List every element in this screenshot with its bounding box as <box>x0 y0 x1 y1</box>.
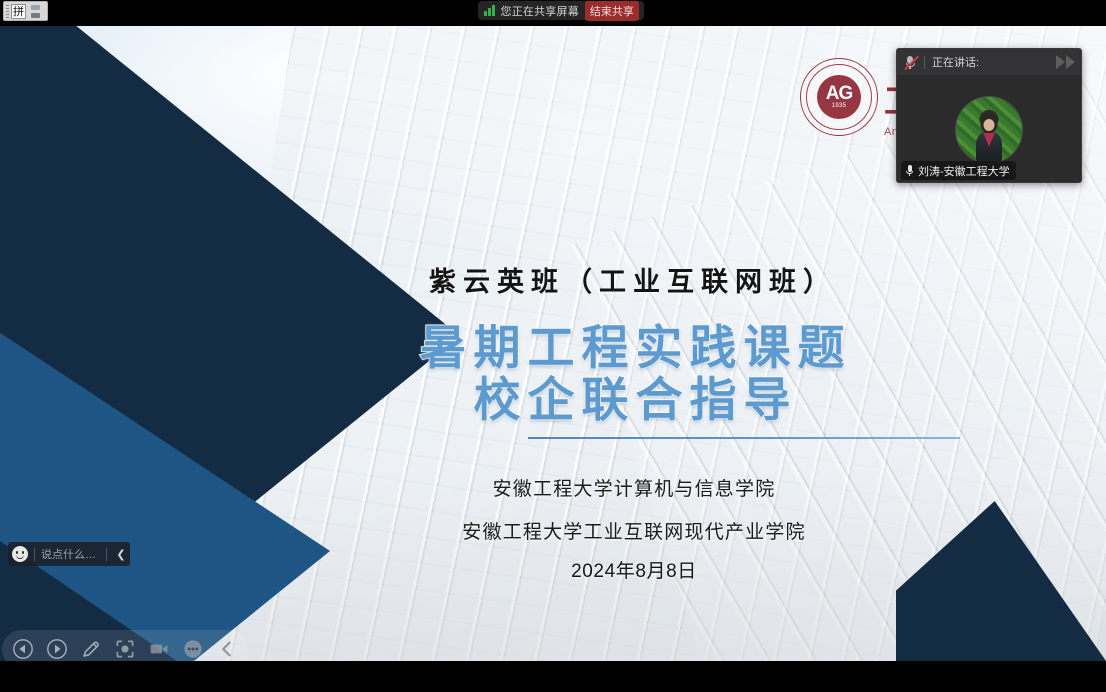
system-top-bar: 拼 您正在共享屏幕 结束共享 <box>0 0 1106 22</box>
participant-name: 刘涛-安徽工程大学 <box>918 163 1010 179</box>
header-divider <box>924 56 925 69</box>
previous-slide-button[interactable] <box>8 634 38 661</box>
chat-divider <box>34 548 35 561</box>
slide-title-line-2: 校企联合指导 <box>165 374 1106 426</box>
ime-mode-glyph[interactable]: 拼 <box>11 4 26 19</box>
university-seal-logo: AG 1935 <box>800 58 878 136</box>
share-status-text: 您正在共享屏幕 <box>501 3 579 19</box>
powerpoint-presenter-toolbar <box>2 630 248 661</box>
slide-main-title: 暑期工程实践课题 校企联合指导 <box>0 322 1106 426</box>
ime-toggle-icon[interactable] <box>28 4 42 19</box>
screen-share-window: 拼 您正在共享屏幕 结束共享 AG <box>0 0 1106 692</box>
mic-on-icon <box>905 165 914 177</box>
participant-name-tag: 刘涛-安徽工程大学 <box>901 161 1016 180</box>
logo-monogram: AG <box>826 84 853 103</box>
next-slide-button[interactable] <box>42 634 72 661</box>
chevron-left-icon[interactable]: ❮ <box>112 542 130 566</box>
chat-input[interactable]: 说点什么… <box>41 546 101 562</box>
ime-drag-handle[interactable] <box>6 5 9 18</box>
slide-subtitle-line-2: 安徽工程大学工业互联网现代产业学院 <box>0 517 1106 544</box>
slide-title-line-1: 暑期工程实践课题 <box>165 322 1106 374</box>
speaking-label: 正在讲话: <box>932 54 979 70</box>
more-options-button[interactable] <box>178 634 208 661</box>
collapse-chevrons-icon[interactable] <box>1056 55 1075 69</box>
slide-date: 2024年8月8日 <box>0 556 1106 583</box>
video-panel-body: 刘涛-安徽工程大学 <box>897 75 1081 183</box>
stop-sharing-button[interactable]: 结束共享 <box>585 1 639 21</box>
mic-muted-icon[interactable] <box>903 55 917 70</box>
chat-comment-widget[interactable]: 说点什么… ❮ <box>8 542 130 566</box>
camera-button[interactable] <box>144 634 174 661</box>
emoji-smiley-icon[interactable] <box>12 546 28 562</box>
participant-video-panel[interactable]: 正在讲话: 刘涛-安徽工程大学 <box>896 48 1082 183</box>
video-panel-header: 正在讲话: <box>897 49 1081 75</box>
signal-bars-icon <box>484 5 495 16</box>
chat-divider-2 <box>106 548 107 561</box>
pen-tool-button[interactable] <box>76 634 106 661</box>
laser-pointer-button[interactable] <box>110 634 140 661</box>
title-underline-rule <box>528 437 960 439</box>
collapse-toolbar-button[interactable] <box>212 634 242 661</box>
letterbox-bottom <box>0 661 1106 692</box>
avatar <box>955 96 1023 164</box>
slide-subtitle-line-1: 安徽工程大学计算机与信息学院 <box>0 474 1106 501</box>
screen-share-notice: 您正在共享屏幕 结束共享 <box>478 1 644 20</box>
slide-kicker-text: 紫云英班（工业互联网班） <box>0 260 1106 299</box>
letterbox-top <box>0 22 1106 26</box>
logo-year: 1935 <box>832 103 847 110</box>
ime-indicator[interactable]: 拼 <box>3 1 48 21</box>
